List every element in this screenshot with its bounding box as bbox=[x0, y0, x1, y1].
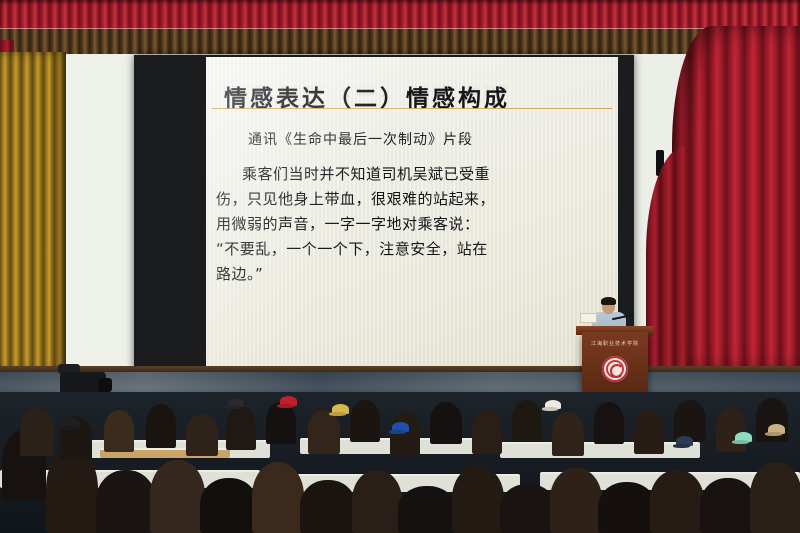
audience-member bbox=[550, 468, 602, 533]
audience-member bbox=[452, 466, 504, 533]
audience-cap bbox=[228, 398, 244, 407]
presentation-slide: 情感表达（二）情感构成 情感表达（二）情感构成 通讯《生命中最后一次制动》片段 … bbox=[206, 57, 618, 369]
slide-body-line: 伤，只见他身上带血，很艰难的站起来， bbox=[216, 187, 611, 212]
audience-member bbox=[472, 410, 502, 454]
audience-cap bbox=[332, 404, 349, 414]
audience-member bbox=[300, 480, 356, 533]
projection-screen[interactable]: 情感表达（二）情感构成 情感表达（二）情感构成 通讯《生命中最后一次制动》片段 … bbox=[206, 57, 618, 369]
audience-member bbox=[634, 410, 664, 454]
slide-body-line: 乘客们当时并不知道司机吴斌已受重 bbox=[216, 162, 611, 187]
audience-member bbox=[674, 400, 706, 442]
university-seal-icon bbox=[602, 356, 628, 382]
audience-cap bbox=[545, 400, 561, 409]
audience-member bbox=[552, 412, 584, 456]
wall-panel-left bbox=[62, 54, 142, 372]
audience-member bbox=[352, 470, 402, 533]
audience-cap bbox=[735, 432, 752, 442]
audience-member bbox=[46, 448, 98, 533]
audience-cap bbox=[62, 418, 80, 428]
audience-member bbox=[512, 400, 542, 442]
audience-cap bbox=[280, 396, 297, 406]
audience-cap bbox=[676, 436, 693, 446]
slide-title-underline bbox=[212, 108, 612, 109]
lecture-hall-photo: 情感表达（二）情感构成 情感表达（二）情感构成 通讯《生命中最后一次制动》片段 … bbox=[0, 0, 800, 533]
audience-member bbox=[398, 486, 456, 533]
curtain-red-right bbox=[672, 26, 800, 372]
audience-member bbox=[96, 470, 156, 533]
podium-nameplate bbox=[580, 313, 597, 323]
audience-member bbox=[226, 406, 256, 450]
audience-member bbox=[252, 462, 304, 533]
audience-cap bbox=[392, 422, 409, 432]
audience-member bbox=[594, 402, 624, 444]
audience-member bbox=[186, 414, 218, 456]
audience-member bbox=[350, 400, 380, 442]
speaker-hair bbox=[601, 297, 616, 305]
audience-member bbox=[20, 408, 54, 456]
audience-member bbox=[390, 412, 420, 456]
audience-member bbox=[716, 408, 746, 452]
audience-cap bbox=[768, 424, 785, 434]
audience-member bbox=[700, 478, 756, 533]
audience-member bbox=[266, 402, 296, 444]
wooden-slat-band bbox=[0, 29, 800, 54]
audience-member bbox=[104, 410, 134, 452]
audience-member bbox=[200, 478, 258, 533]
audience-member bbox=[500, 484, 556, 533]
red-valance bbox=[0, 0, 800, 30]
slide-body-line: 用微弱的声音，一字一字地对乘客说： bbox=[216, 212, 611, 237]
slide-body-text: 乘客们当时并不知道司机吴斌已受重 伤，只见他身上带血，很艰难的站起来， 用微弱的… bbox=[216, 162, 611, 287]
audience-member bbox=[750, 462, 800, 533]
audience-member bbox=[650, 470, 704, 533]
slide-body-line: 路边。” bbox=[216, 262, 611, 287]
audience-member bbox=[150, 460, 205, 533]
auditorium-desk bbox=[500, 442, 700, 458]
audience-member bbox=[146, 404, 176, 448]
curtain-gold-left bbox=[0, 52, 66, 372]
slide-body-line: “不要乱，一个一个下，注意安全，站在 bbox=[216, 237, 611, 262]
audience-member bbox=[308, 410, 340, 454]
podium-institution-text: 江海职业技术学院 bbox=[582, 340, 648, 347]
audience-member bbox=[430, 402, 462, 444]
audience-member bbox=[598, 482, 656, 533]
slide-subtitle: 通讯《生命中最后一次制动》片段 bbox=[248, 129, 473, 149]
camera-lens-icon bbox=[98, 378, 112, 392]
